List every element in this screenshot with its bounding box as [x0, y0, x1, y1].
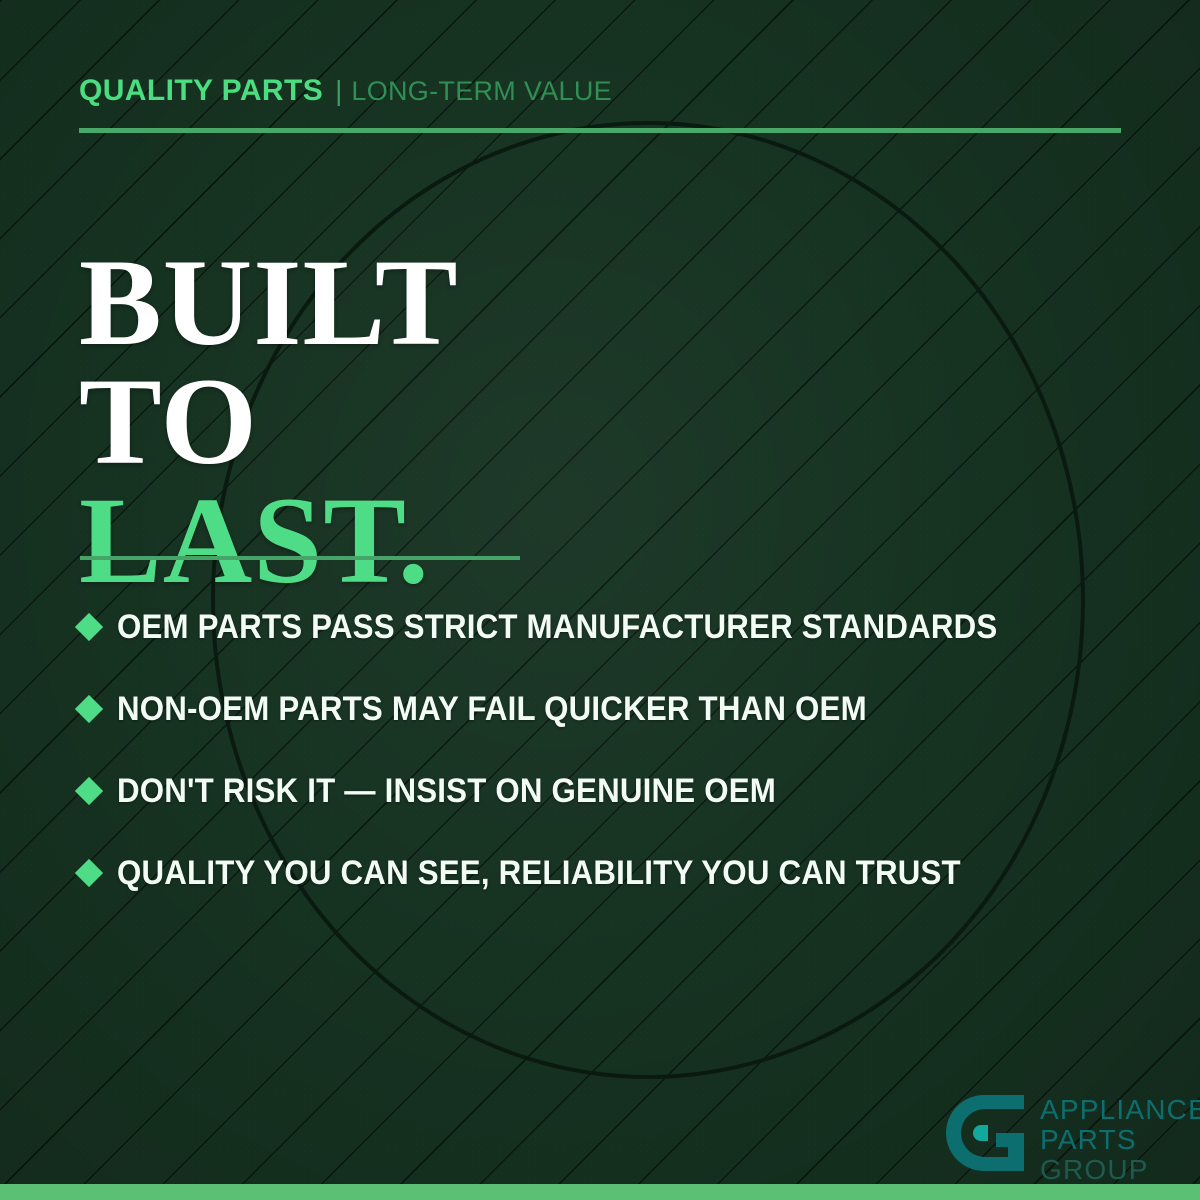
diamond-bullet-icon [75, 695, 103, 723]
eyebrow-strong-text: QUALITY PARTS [79, 74, 323, 108]
logo-line-2: PARTS [1040, 1125, 1200, 1155]
eyebrow-separator: | [323, 75, 351, 107]
page-title: BUILT TO LAST. [79, 243, 459, 600]
bullet-text: DON'T RISK IT — INSIST ON GENUINE OEM [117, 772, 776, 811]
headline-line-2: TO [79, 362, 459, 481]
eyebrow-light-text: LONG-TERM VALUE [351, 76, 612, 107]
list-item: DON'T RISK IT — INSIST ON GENUINE OEM [79, 750, 1139, 832]
brand-logo: APPLIANCE PARTS GROUP [944, 1093, 1200, 1185]
header-divider-rule [79, 128, 1121, 133]
poster-canvas: QUALITY PARTS | LONG-TERM VALUE BUILT TO… [0, 0, 1200, 1200]
headline-divider-rule [80, 556, 520, 560]
list-item: OEM PARTS PASS STRICT MANUFACTURER STAND… [79, 586, 1139, 668]
list-item: NON-OEM PARTS MAY FAIL QUICKER THAN OEM [79, 668, 1139, 750]
logo-line-3: GROUP [1040, 1155, 1200, 1185]
logo-wordmark: APPLIANCE PARTS GROUP [1040, 1093, 1200, 1185]
eyebrow-header: QUALITY PARTS | LONG-TERM VALUE [79, 74, 612, 108]
logo-line-1: APPLIANCE [1040, 1095, 1200, 1125]
diamond-bullet-icon [75, 859, 103, 887]
poster-content: QUALITY PARTS | LONG-TERM VALUE BUILT TO… [0, 0, 1200, 1200]
bullet-text: QUALITY YOU CAN SEE, RELIABILITY YOU CAN… [117, 854, 961, 893]
diamond-bullet-icon [75, 613, 103, 641]
benefits-list: OEM PARTS PASS STRICT MANUFACTURER STAND… [79, 586, 1139, 914]
bullet-text: NON-OEM PARTS MAY FAIL QUICKER THAN OEM [117, 690, 867, 729]
list-item: QUALITY YOU CAN SEE, RELIABILITY YOU CAN… [79, 832, 1139, 914]
headline-line-3: LAST. [79, 481, 459, 600]
headline-line-1: BUILT [79, 243, 459, 362]
appliance-parts-group-g-mark-icon [944, 1093, 1028, 1173]
diamond-bullet-icon [75, 777, 103, 805]
bullet-text: OEM PARTS PASS STRICT MANUFACTURER STAND… [117, 608, 997, 647]
